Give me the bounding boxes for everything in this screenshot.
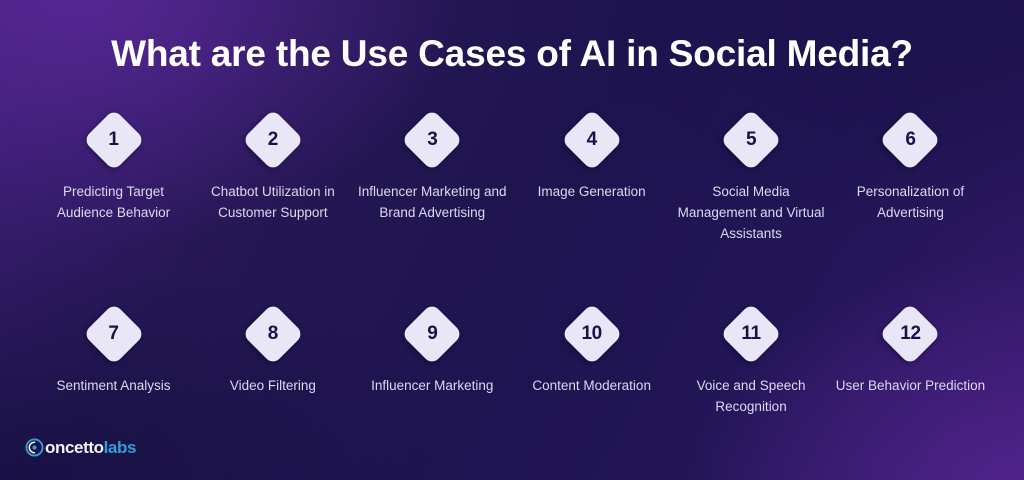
- use-case-item-9[interactable]: 9 Influencer Marketing: [353, 306, 512, 396]
- use-case-item-3[interactable]: 3 Influencer Marketing and Brand Adverti…: [353, 112, 512, 223]
- badge-number: 11: [723, 306, 779, 362]
- badge-number: 9: [404, 306, 460, 362]
- diamond-badge-icon: 6: [882, 112, 938, 168]
- badge-number: 2: [245, 112, 301, 168]
- diamond-badge-icon: 8: [245, 306, 301, 362]
- use-case-item-7[interactable]: 7 Sentiment Analysis: [34, 306, 193, 396]
- use-case-label: Voice and Speech Recognition: [672, 375, 831, 417]
- use-case-item-5[interactable]: 5 Social Media Management and Virtual As…: [672, 112, 831, 244]
- use-case-label: User Behavior Prediction: [831, 375, 990, 396]
- concetto-circle-mark-icon: [25, 438, 44, 457]
- use-case-label: Chatbot Utilization in Customer Support: [193, 181, 352, 223]
- use-case-row-2: 7 Sentiment Analysis 8 Video Filtering 9…: [34, 306, 990, 417]
- use-case-label: Influencer Marketing and Brand Advertisi…: [353, 181, 512, 223]
- use-case-label: Video Filtering: [193, 375, 352, 396]
- diamond-badge-icon: 7: [86, 306, 142, 362]
- use-case-item-12[interactable]: 12 User Behavior Prediction: [831, 306, 990, 396]
- diamond-badge-icon: 9: [404, 306, 460, 362]
- use-case-label: Sentiment Analysis: [34, 375, 193, 396]
- badge-number: 8: [245, 306, 301, 362]
- use-case-item-4[interactable]: 4 Image Generation: [512, 112, 671, 202]
- use-case-label: Content Moderation: [512, 375, 671, 396]
- diamond-badge-icon: 3: [404, 112, 460, 168]
- diamond-badge-icon: 1: [86, 112, 142, 168]
- badge-number: 10: [564, 306, 620, 362]
- badge-number: 6: [882, 112, 938, 168]
- badge-number: 1: [86, 112, 142, 168]
- badge-number: 12: [882, 306, 938, 362]
- use-case-item-11[interactable]: 11 Voice and Speech Recognition: [672, 306, 831, 417]
- use-case-item-10[interactable]: 10 Content Moderation: [512, 306, 671, 396]
- logo-text-secondary: labs: [104, 438, 136, 457]
- use-case-item-6[interactable]: 6 Personalization of Advertising: [831, 112, 990, 223]
- badge-number: 7: [86, 306, 142, 362]
- use-case-label: Influencer Marketing: [353, 375, 512, 396]
- use-case-item-2[interactable]: 2 Chatbot Utilization in Customer Suppor…: [193, 112, 352, 223]
- use-case-item-8[interactable]: 8 Video Filtering: [193, 306, 352, 396]
- page-title: What are the Use Cases of AI in Social M…: [0, 30, 1024, 78]
- diamond-badge-icon: 5: [723, 112, 779, 168]
- infographic-canvas: What are the Use Cases of AI in Social M…: [0, 0, 1024, 480]
- badge-number: 4: [564, 112, 620, 168]
- concettolabs-logo[interactable]: oncettolabs: [25, 436, 136, 458]
- diamond-badge-icon: 2: [245, 112, 301, 168]
- diamond-badge-icon: 12: [882, 306, 938, 362]
- use-case-grid: 1 Predicting Target Audience Behavior 2 …: [34, 112, 990, 417]
- logo-text-primary: oncetto: [45, 438, 104, 457]
- use-case-label: Personalization of Advertising: [831, 181, 990, 223]
- use-case-item-1[interactable]: 1 Predicting Target Audience Behavior: [34, 112, 193, 223]
- logo-wordmark: oncettolabs: [45, 438, 136, 457]
- use-case-label: Social Media Management and Virtual Assi…: [672, 181, 831, 244]
- diamond-badge-icon: 11: [723, 306, 779, 362]
- badge-number: 5: [723, 112, 779, 168]
- diamond-badge-icon: 4: [564, 112, 620, 168]
- use-case-label: Predicting Target Audience Behavior: [34, 181, 193, 223]
- diamond-badge-icon: 10: [564, 306, 620, 362]
- use-case-row-1: 1 Predicting Target Audience Behavior 2 …: [34, 112, 990, 244]
- badge-number: 3: [404, 112, 460, 168]
- use-case-label: Image Generation: [512, 181, 671, 202]
